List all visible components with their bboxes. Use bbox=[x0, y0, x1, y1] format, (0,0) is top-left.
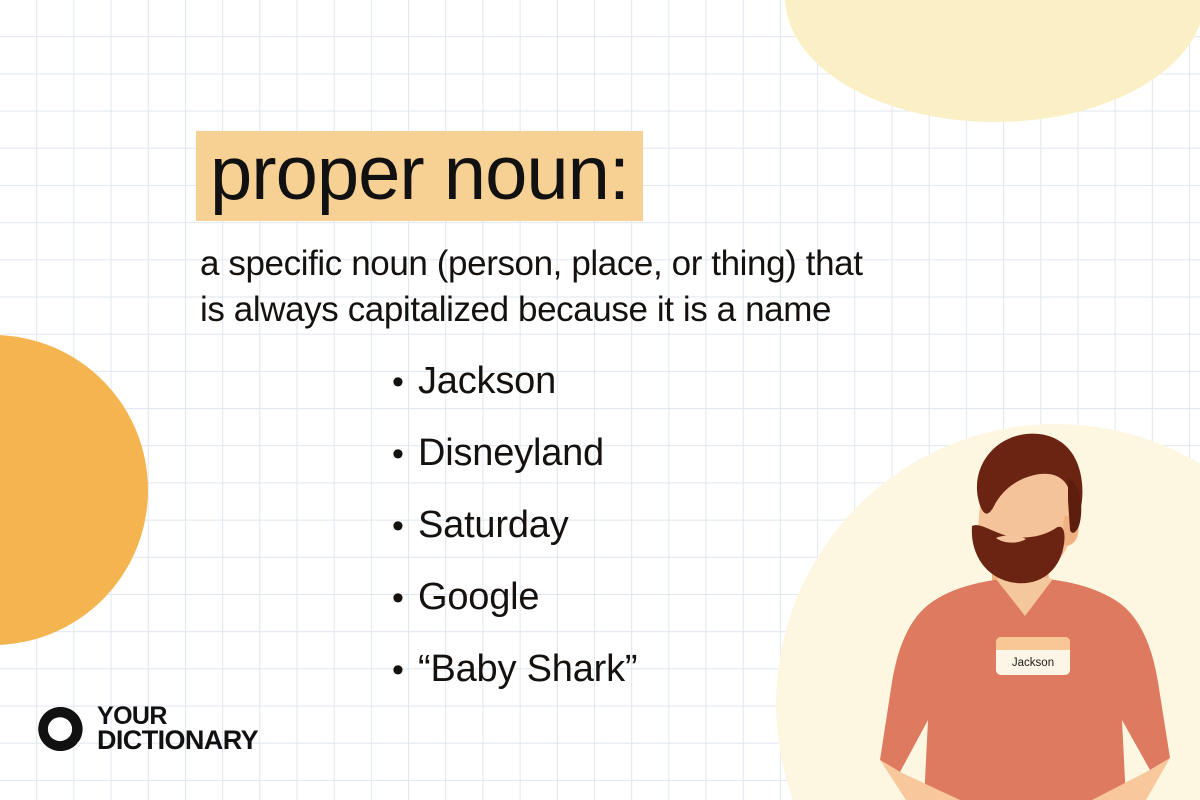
example-label: Google bbox=[418, 576, 539, 619]
infographic-canvas: proper noun: a specific noun (person, pl… bbox=[0, 0, 1200, 800]
title-term-text: proper noun: bbox=[210, 133, 629, 215]
list-item: • Saturday bbox=[392, 504, 637, 576]
logo-wordmark: YOUR DICTIONARY bbox=[97, 704, 258, 754]
examples-list: • Jackson • Disneyland • Saturday • Goog… bbox=[392, 360, 637, 720]
example-label: “Baby Shark” bbox=[418, 648, 637, 691]
definition-line-1: a specific noun (person, place, or thing… bbox=[200, 241, 1080, 287]
name-tag-label: Jackson bbox=[1012, 657, 1054, 669]
bullet-icon: • bbox=[392, 653, 418, 687]
page-title: proper noun: bbox=[196, 131, 643, 221]
example-label: Saturday bbox=[418, 504, 569, 547]
bullet-icon: • bbox=[392, 509, 418, 543]
list-item: • Jackson bbox=[392, 360, 637, 432]
yourdictionary-logo[interactable]: YOUR DICTIONARY bbox=[36, 704, 258, 754]
list-item: • Google bbox=[392, 576, 637, 648]
example-label: Jackson bbox=[418, 360, 556, 403]
bullet-icon: • bbox=[392, 437, 418, 471]
name-tag: Jackson bbox=[996, 637, 1070, 675]
title-highlight-box: proper noun: bbox=[196, 131, 643, 221]
yourdictionary-q-mark-icon bbox=[36, 705, 84, 753]
list-item: • Disneyland bbox=[392, 432, 637, 504]
bullet-icon: • bbox=[392, 365, 418, 399]
definition-text: a specific noun (person, place, or thing… bbox=[200, 241, 1080, 333]
definition-line-2: is always capitalized because it is a na… bbox=[200, 287, 1080, 333]
logo-line-dictionary: DICTIONARY bbox=[97, 728, 258, 754]
content-layer: proper noun: a specific noun (person, pl… bbox=[0, 0, 1200, 800]
illustration-bearded-man: Jackson bbox=[850, 420, 1200, 800]
list-item: • “Baby Shark” bbox=[392, 648, 637, 720]
bullet-icon: • bbox=[392, 581, 418, 615]
example-label: Disneyland bbox=[418, 432, 604, 475]
